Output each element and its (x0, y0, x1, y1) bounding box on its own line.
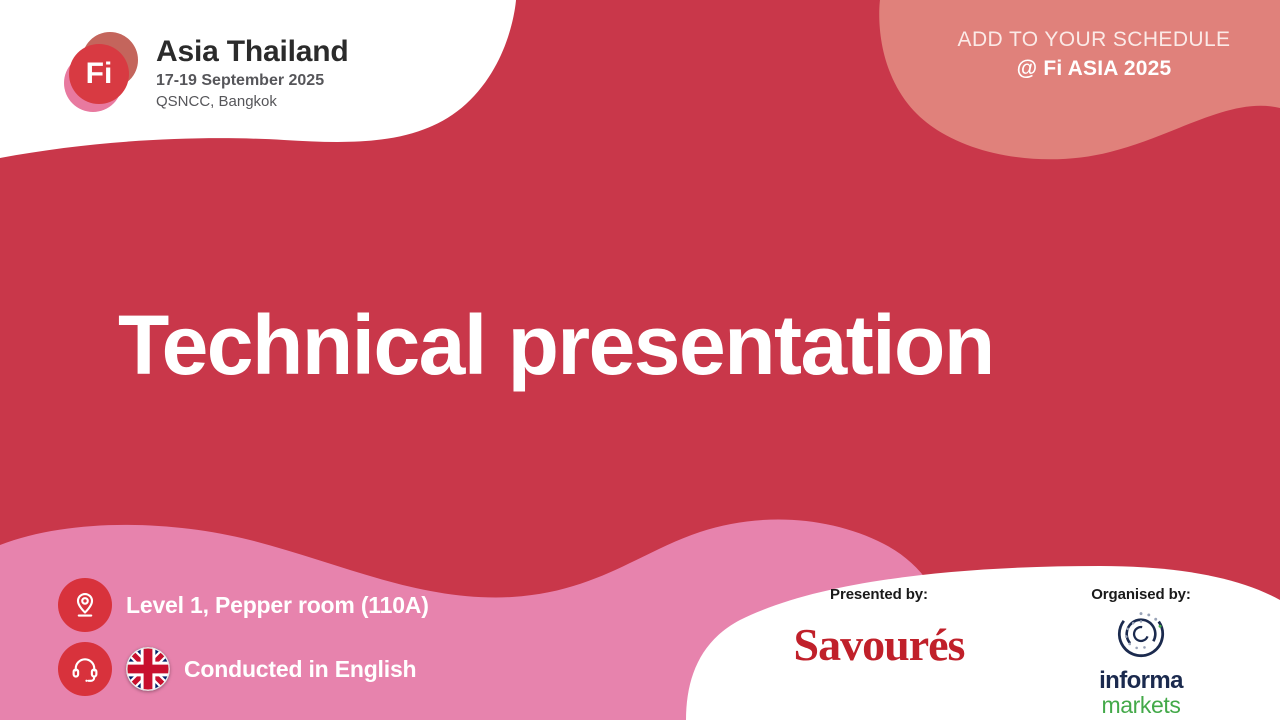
fi-logo-label: Fi (69, 44, 129, 104)
organised-by-block: Organised by: (1022, 586, 1260, 720)
event-title: Asia Thailand (156, 36, 348, 68)
info-language-text: Conducted in English (184, 656, 416, 683)
presented-by-block: Presented by: Savourés (760, 586, 1022, 720)
uk-flag-icon (126, 647, 170, 691)
info-row-location: Level 1, Pepper room (110A) (58, 578, 429, 632)
savoures-logo: Savourés (794, 622, 965, 668)
event-brand-lockup: Fi Asia Thailand 17-19 September 2025 QS… (62, 32, 348, 116)
event-dates: 17-19 September 2025 (156, 70, 348, 92)
informa-wordmark: informa (1099, 669, 1183, 693)
info-row-language: Conducted in English (58, 642, 429, 696)
markets-wordmark: markets (1102, 693, 1181, 717)
fi-logo-icon: Fi (62, 32, 140, 116)
informa-markets-logo: informa markets (1099, 669, 1183, 717)
informa-mark-icon (1115, 608, 1167, 665)
presented-by-label: Presented by: (830, 586, 928, 604)
location-pin-icon (58, 578, 112, 632)
session-info-block: Level 1, Pepper room (110A) (58, 578, 429, 696)
headset-icon (58, 642, 112, 696)
presentation-slide: Fi Asia Thailand 17-19 September 2025 QS… (0, 0, 1280, 720)
partner-logos: Presented by: Savourés Organised by: (760, 586, 1260, 720)
brand-text-block: Asia Thailand 17-19 September 2025 QSNCC… (156, 36, 348, 112)
schedule-badge-line1: ADD TO YOUR SCHEDULE (944, 26, 1244, 53)
add-to-schedule-badge[interactable]: ADD TO YOUR SCHEDULE @ Fi ASIA 2025 (944, 26, 1244, 85)
organised-by-label: Organised by: (1091, 586, 1191, 604)
info-location-text: Level 1, Pepper room (110A) (126, 592, 429, 619)
page-title: Technical presentation (118, 300, 1178, 391)
schedule-badge-line2: @ Fi ASIA 2025 (944, 53, 1244, 85)
event-venue: QSNCC, Bangkok (156, 92, 348, 112)
